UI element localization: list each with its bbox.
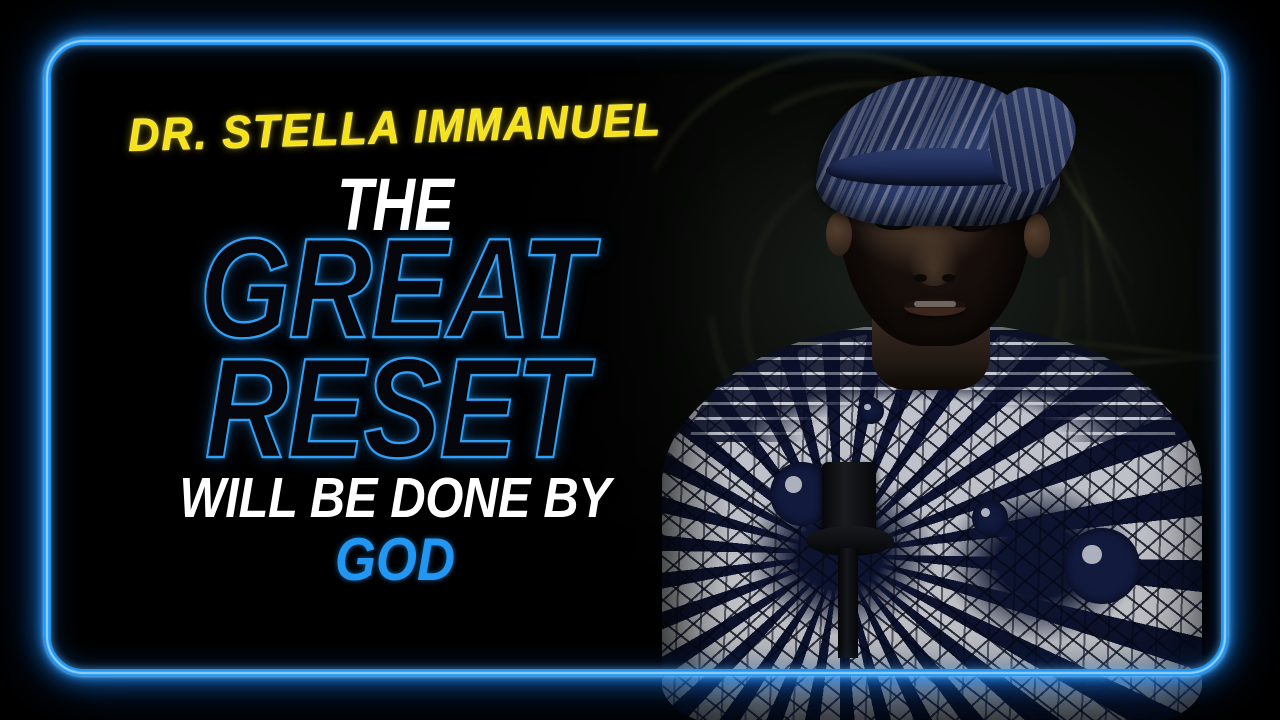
microphone-stem xyxy=(838,548,858,658)
ear-left xyxy=(826,212,852,256)
dress-motif xyxy=(858,398,884,424)
teeth xyxy=(914,301,956,307)
nostril xyxy=(914,274,927,282)
thumbnail-photo xyxy=(0,0,1280,720)
video-thumbnail: DR. STELLA IMMANUEL THE GREAT RESET WILL… xyxy=(0,0,1280,720)
subject-portrait xyxy=(620,30,1240,690)
nostril xyxy=(942,274,955,282)
ear-right xyxy=(1024,214,1050,258)
dress-motif xyxy=(1064,528,1140,604)
dress-motif xyxy=(972,500,1008,536)
